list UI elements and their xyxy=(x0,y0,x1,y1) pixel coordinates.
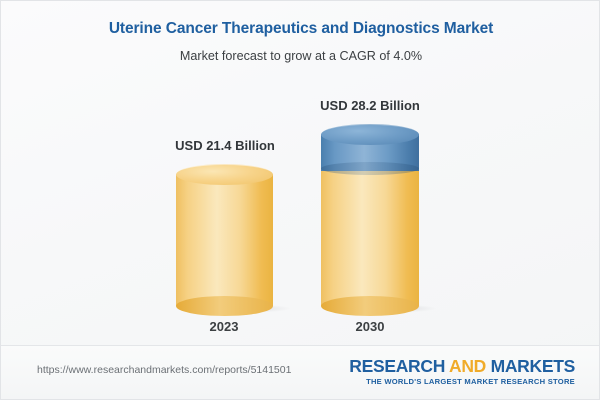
value-label-2023: USD 21.4 Billion xyxy=(149,138,301,153)
bar-2023-top-cap xyxy=(176,164,273,185)
category-label-2030: 2030 xyxy=(310,319,430,334)
category-label-2023: 2023 xyxy=(164,319,284,334)
bar-2030-bottom-cap xyxy=(321,296,419,316)
bar-2023[interactable] xyxy=(176,164,273,316)
bar-2030-segment-seam xyxy=(321,162,419,175)
bar-2030-top-cap xyxy=(321,124,419,145)
logo-word-research: RESEARCH xyxy=(349,356,449,376)
bar-2030-base-segment xyxy=(321,169,419,306)
report-url-link[interactable]: https://www.researchandmarkets.com/repor… xyxy=(37,364,291,376)
logo-word-and: AND xyxy=(449,356,491,376)
bar-2030[interactable] xyxy=(321,124,419,316)
research-and-markets-logo[interactable]: RESEARCH AND MARKETS THE WORLD'S LARGEST… xyxy=(349,357,575,387)
logo-wordmark: RESEARCH AND MARKETS xyxy=(349,357,575,376)
value-label-2030: USD 28.2 Billion xyxy=(294,98,446,113)
chart-card: Uterine Cancer Therapeutics and Diagnost… xyxy=(0,0,600,400)
bar-2023-bottom-cap xyxy=(176,296,273,316)
logo-tagline: THE WORLD'S LARGEST MARKET RESEARCH STOR… xyxy=(349,377,575,387)
bar-2023-body xyxy=(176,174,273,306)
logo-word-markets: MARKETS xyxy=(491,356,575,376)
plot-area: USD 21.4 Billion USD 28.2 Billion xyxy=(1,1,600,346)
footer: https://www.researchandmarkets.com/repor… xyxy=(1,345,600,399)
